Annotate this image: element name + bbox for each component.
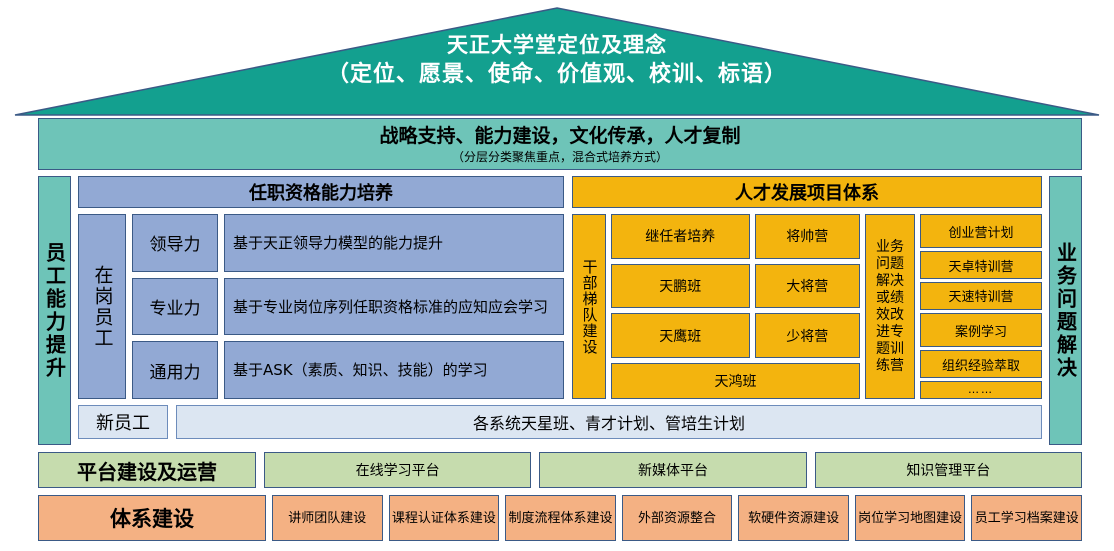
university-framework-diagram: 天正大学堂定位及理念 （定位、愿景、使命、价值观、校训、标语） 战略支持、能力建… [0, 0, 1114, 551]
platform-row: 平台建设及运营 在线学习平台 新媒体平台 知识管理平台 [38, 452, 1082, 488]
cadre-building-label: 干部梯队建设 [582, 259, 597, 355]
qualification-title: 任职资格能力培养 [78, 176, 564, 208]
system-item: 制度流程体系建设 [505, 495, 616, 541]
cadre-cell: 将帅营 [755, 214, 860, 259]
right-pillar-label: 业务问题解决 [1056, 242, 1076, 380]
cadre-row: 继任者培养 将帅营 [611, 214, 860, 259]
camp-cell: 天速特训营 [920, 282, 1042, 310]
cadre-cell: 继任者培养 [611, 214, 750, 259]
system-item: 岗位学习地图建设 [855, 495, 966, 541]
strategy-band: 战略支持、能力建设，文化传承，人才复制 （分层分类聚焦重点，混合式培养方式） [38, 118, 1082, 170]
roof-triangle-icon [0, 0, 1114, 118]
platform-lead-label: 平台建设及运营 [38, 452, 256, 488]
description-cell: 基于天正领导力模型的能力提升 [224, 214, 564, 272]
description-cell: 基于专业岗位序列任职资格标准的应知应会学习 [224, 278, 564, 336]
left-pillar-label: 员工能力提升 [45, 242, 65, 380]
system-item: 外部资源整合 [622, 495, 733, 541]
main-body: 员工能力提升 任职资格能力培养 在岗员工 领导力 专业力 通用力 [38, 176, 1082, 445]
talent-title: 人才发展项目体系 [572, 176, 1042, 208]
cadre-cell: 少将营 [755, 313, 860, 358]
description-column: 基于天正领导力模型的能力提升 基于专业岗位序列任职资格标准的应知应会学习 基于A… [224, 214, 564, 399]
roof-section: 天正大学堂定位及理念 （定位、愿景、使命、价值观、校训、标语） [0, 0, 1114, 118]
camp-column: 创业营计划 天卓特训营 天速特训营 案例学习 组织经验萃取 …… [920, 214, 1042, 399]
platform-item: 在线学习平台 [264, 452, 531, 488]
platform-item: 新媒体平台 [539, 452, 806, 488]
ability-cell: 通用力 [132, 341, 218, 399]
system-row: 体系建设 讲师团队建设 课程认证体系建设 制度流程体系建设 外部资源整合 软硬件… [38, 495, 1082, 541]
left-pillar: 员工能力提升 [38, 176, 71, 445]
camp-cell: 天卓特训营 [920, 251, 1042, 279]
new-employee-row: 新员工 各系统天星班、青才计划、管培生计划 [78, 405, 1042, 439]
qualification-body: 在岗员工 领导力 专业力 通用力 基于天正领导力模型的能力提升 基于专业岗位序列… [78, 214, 564, 399]
new-employee-label: 新员工 [78, 405, 168, 439]
cadre-building-group: 干部梯队建设 [572, 214, 606, 399]
cadre-cell: 天鹏班 [611, 264, 750, 309]
cadre-cell: 大将营 [755, 264, 860, 309]
cadre-full-cell: 天鸿班 [611, 363, 860, 399]
talent-development-panel: 人才发展项目体系 干部梯队建设 继任者培养 将帅营 [572, 176, 1042, 399]
right-pillar: 业务问题解决 [1049, 176, 1082, 445]
ability-cell: 专业力 [132, 278, 218, 336]
ability-column: 领导力 专业力 通用力 [132, 214, 218, 399]
business-training-camp-label: 业务问题解决或绩效改进专题训练营 [874, 239, 906, 375]
camp-cell: 创业营计划 [920, 214, 1042, 248]
talent-body: 干部梯队建设 继任者培养 将帅营 天鹏班 大将营 [572, 214, 1042, 399]
cadre-row: 天鹏班 大将营 [611, 264, 860, 309]
ability-cell: 领导力 [132, 214, 218, 272]
new-employee-programs: 各系统天星班、青才计划、管培生计划 [176, 405, 1042, 439]
business-training-camp: 业务问题解决或绩效改进专题训练营 [865, 214, 915, 399]
camp-cell: 案例学习 [920, 313, 1042, 347]
system-item: 讲师团队建设 [272, 495, 383, 541]
cadre-rows: 继任者培养 将帅营 天鹏班 大将营 天鹰班 少将营 [611, 214, 860, 358]
system-item: 课程认证体系建设 [389, 495, 500, 541]
on-job-employee-group: 在岗员工 [78, 214, 126, 399]
strategy-band-sub: （分层分类聚焦重点，混合式培养方式） [452, 149, 668, 165]
strategy-band-main: 战略支持、能力建设，文化传承，人才复制 [379, 124, 740, 148]
system-lead-label: 体系建设 [38, 495, 266, 541]
system-item: 软硬件资源建设 [738, 495, 849, 541]
center-column: 任职资格能力培养 在岗员工 领导力 专业力 通用力 基于天正领导力模型的能力提升 [78, 176, 1042, 445]
camp-cell: …… [920, 381, 1042, 399]
camp-cell: 组织经验萃取 [920, 350, 1042, 378]
on-job-employee-label: 在岗员工 [93, 265, 112, 349]
qualification-panel: 任职资格能力培养 在岗员工 领导力 专业力 通用力 基于天正领导力模型的能力提升 [78, 176, 564, 399]
description-cell: 基于ASK（素质、知识、技能）的学习 [224, 341, 564, 399]
cadre-cell: 天鹰班 [611, 313, 750, 358]
system-item: 员工学习档案建设 [971, 495, 1082, 541]
cadre-grid: 继任者培养 将帅营 天鹏班 大将营 天鹰班 少将营 [611, 214, 860, 399]
platform-item: 知识管理平台 [815, 452, 1082, 488]
cadre-row: 天鹰班 少将营 [611, 313, 860, 358]
center-top-row: 任职资格能力培养 在岗员工 领导力 专业力 通用力 基于天正领导力模型的能力提升 [78, 176, 1042, 399]
